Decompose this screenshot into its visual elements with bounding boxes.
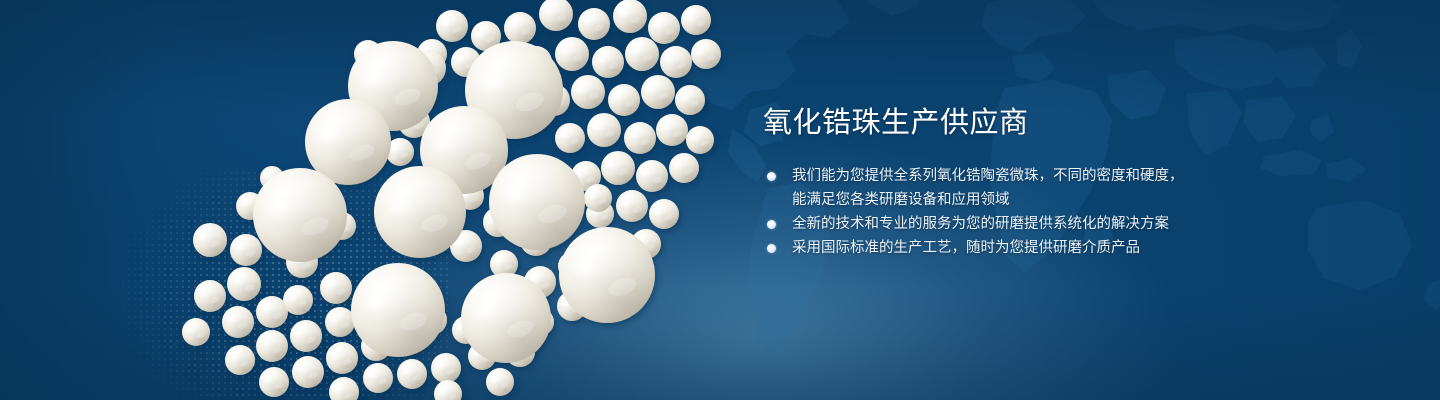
feature-list: 我们能为您提供全系列氧化锆陶瓷微珠，不同的密度和硬度， 能满足您各类研磨设备和应…	[763, 164, 1323, 260]
feature-list-item: 全新的技术和专业的服务为您的研磨提供系统化的解决方案	[763, 212, 1323, 236]
feature-list-item: 我们能为您提供全系列氧化锆陶瓷微珠，不同的密度和硬度， 能满足您各类研磨设备和应…	[763, 164, 1323, 212]
banner-content: 氧化锆珠生产供应商 我们能为您提供全系列氧化锆陶瓷微珠，不同的密度和硬度， 能满…	[763, 104, 1323, 260]
hero-banner: 氧化锆珠生产供应商 我们能为您提供全系列氧化锆陶瓷微珠，不同的密度和硬度， 能满…	[0, 0, 1440, 400]
feature-text-line: 全新的技术和专业的服务为您的研磨提供系统化的解决方案	[792, 212, 1323, 236]
bullet-dot-icon	[767, 244, 776, 253]
feature-text-line: 采用国际标准的生产工艺，随时为您提供研磨介质产品	[792, 236, 1323, 260]
feature-text-line: 能满足您各类研磨设备和应用领域	[792, 188, 1323, 212]
banner-headline: 氧化锆珠生产供应商	[763, 104, 1323, 142]
feature-list-item: 采用国际标准的生产工艺，随时为您提供研磨介质产品	[763, 236, 1323, 260]
bullet-dot-icon	[767, 220, 776, 229]
feature-text-line: 我们能为您提供全系列氧化锆陶瓷微珠，不同的密度和硬度，	[792, 164, 1323, 188]
bullet-dot-icon	[767, 172, 776, 181]
